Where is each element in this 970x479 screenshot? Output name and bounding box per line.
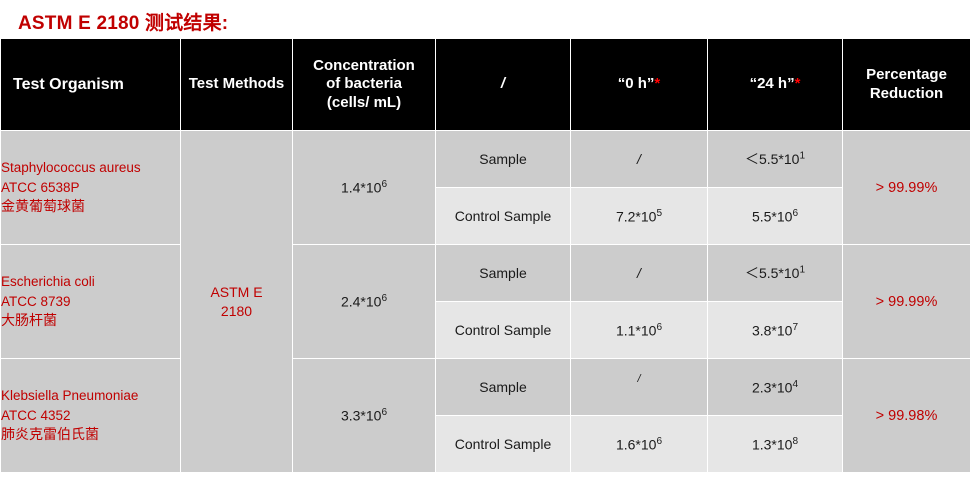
- cell-24h-control-3: 1.3*108: [708, 416, 843, 473]
- organism-1-atcc: ATCC 6538P: [1, 178, 180, 197]
- table-row: Klebsiella Pneumoniae ATCC 4352 肺炎克雷伯氏菌 …: [1, 359, 970, 416]
- cell-24h-sample-2: ＜5.5*101: [708, 245, 843, 302]
- concentration-2-value: 2.4*10: [341, 294, 381, 310]
- cell-sample-type-3: Sample: [436, 359, 571, 416]
- concentration-3-exponent: 6: [381, 407, 387, 418]
- cell-0h-control-1: 7.2*105: [571, 188, 708, 245]
- cell-0h-sample-2: /: [571, 245, 708, 302]
- table-row: Escherichia coli ATCC 8739 大肠杆菌 2.4*106 …: [1, 245, 970, 302]
- column-header-24h: “24 h”*: [708, 39, 843, 131]
- astm-results-table: Test Organism Test Methods Concentration…: [0, 38, 970, 473]
- column-header-test-methods: Test Methods: [181, 39, 293, 131]
- column-header-test-methods-text: Test Methods: [189, 75, 285, 92]
- concentration-1-value: 1.4*10: [341, 180, 381, 196]
- cell-0h-sample-1: /: [571, 131, 708, 188]
- exponent-24h-sample-3: 4: [792, 379, 798, 390]
- concentration-line-1: Concentration: [313, 57, 415, 74]
- cell-concentration-2: 2.4*106: [293, 245, 436, 359]
- organism-3-scientific: Klebsiella Pneumoniae: [1, 386, 180, 405]
- value-24h-control-1: 5.5*10: [752, 208, 792, 224]
- concentration-2-exponent: 6: [381, 293, 387, 304]
- cell-control-type-2: Control Sample: [436, 302, 571, 359]
- cell-0h-control-2: 1.1*106: [571, 302, 708, 359]
- cell-percentage-2: > 99.99%: [843, 245, 970, 359]
- table-row: Staphylococcus aureus ATCC 6538P 金黄葡萄球菌 …: [1, 131, 970, 188]
- header-24h-text: “24 h”: [750, 75, 795, 92]
- column-header-concentration: Concentration of bacteria (cells/ mL): [293, 39, 436, 131]
- organism-3-chinese: 肺炎克雷伯氏菌: [1, 425, 180, 445]
- value-24h-sample-1: ＜5.5*10: [745, 151, 799, 167]
- organism-3-atcc: ATCC 4352: [1, 406, 180, 425]
- cell-organism-1: Staphylococcus aureus ATCC 6538P 金黄葡萄球菌: [1, 131, 181, 245]
- concentration-line-2: of bacteria: [326, 75, 402, 92]
- cell-24h-control-2: 3.8*107: [708, 302, 843, 359]
- cell-test-method: ASTM E 2180: [181, 131, 293, 473]
- cell-concentration-3: 3.3*106: [293, 359, 436, 473]
- cell-control-type-3: Control Sample: [436, 416, 571, 473]
- value-24h-sample-2: ＜5.5*10: [745, 265, 799, 281]
- percentage-line-1: Percentage: [866, 66, 947, 83]
- exponent-24h-sample-1: 1: [799, 150, 805, 161]
- column-header-sample-type: /: [436, 39, 571, 131]
- cell-percentage-3: > 99.98%: [843, 359, 970, 473]
- organism-1-chinese: 金黄葡萄球菌: [1, 197, 180, 217]
- column-header-test-organism: Test Organism: [1, 39, 181, 131]
- astm-results-page: ASTM E 2180 测试结果: Test Organism Test Met…: [0, 0, 970, 479]
- value-0h-control-1: 7.2*10: [616, 208, 656, 224]
- cell-sample-type-1: Sample: [436, 131, 571, 188]
- exponent-24h-control-2: 7: [792, 322, 798, 333]
- value-24h-sample-3: 2.3*10: [752, 379, 792, 395]
- exponent-0h-control-2: 6: [656, 322, 662, 333]
- cell-percentage-1: > 99.99%: [843, 131, 970, 245]
- concentration-line-3: (cells/ mL): [327, 94, 401, 111]
- concentration-1-exponent: 6: [381, 179, 387, 190]
- organism-2-scientific: Escherichia coli: [1, 272, 180, 291]
- cell-0h-sample-3: /: [571, 359, 708, 416]
- method-line-1: ASTM E: [210, 284, 262, 300]
- cell-24h-control-1: 5.5*106: [708, 188, 843, 245]
- cell-control-type-1: Control Sample: [436, 188, 571, 245]
- exponent-24h-sample-2: 1: [799, 264, 805, 275]
- organism-1-scientific: Staphylococcus aureus: [1, 158, 180, 177]
- exponent-0h-control-1: 5: [656, 208, 662, 219]
- organism-2-chinese: 大肠杆菌: [1, 311, 180, 331]
- cell-concentration-1: 1.4*106: [293, 131, 436, 245]
- cell-0h-control-3: 1.6*106: [571, 416, 708, 473]
- percentage-line-2: Reduction: [870, 85, 943, 102]
- cell-24h-sample-1: ＜5.5*101: [708, 131, 843, 188]
- cell-organism-3: Klebsiella Pneumoniae ATCC 4352 肺炎克雷伯氏菌: [1, 359, 181, 473]
- header-row: Test Organism Test Methods Concentration…: [1, 39, 970, 131]
- cell-sample-type-2: Sample: [436, 245, 571, 302]
- value-24h-control-3: 1.3*10: [752, 436, 792, 452]
- header-24h-asterisk: *: [795, 75, 801, 92]
- table-body: Staphylococcus aureus ATCC 6538P 金黄葡萄球菌 …: [1, 131, 970, 473]
- header-0h-asterisk: *: [654, 75, 660, 92]
- table-header: Test Organism Test Methods Concentration…: [1, 39, 970, 131]
- value-24h-control-2: 3.8*10: [752, 322, 792, 338]
- concentration-3-value: 3.3*10: [341, 408, 381, 424]
- exponent-24h-control-3: 8: [792, 436, 798, 447]
- results-table-wrapper: Test Organism Test Methods Concentration…: [0, 38, 970, 479]
- value-0h-control-3: 1.6*10: [616, 436, 656, 452]
- method-line-2: 2180: [221, 303, 252, 319]
- column-header-percentage-reduction: Percentage Reduction: [843, 39, 970, 131]
- page-title: ASTM E 2180 测试结果:: [18, 8, 228, 35]
- exponent-24h-control-1: 6: [792, 208, 798, 219]
- exponent-0h-control-3: 6: [656, 436, 662, 447]
- cell-24h-sample-3: 2.3*104: [708, 359, 843, 416]
- column-header-0h: “0 h”*: [571, 39, 708, 131]
- header-0h-text: “0 h”: [618, 75, 655, 92]
- value-0h-control-2: 1.1*10: [616, 322, 656, 338]
- cell-organism-2: Escherichia coli ATCC 8739 大肠杆菌: [1, 245, 181, 359]
- organism-2-atcc: ATCC 8739: [1, 292, 180, 311]
